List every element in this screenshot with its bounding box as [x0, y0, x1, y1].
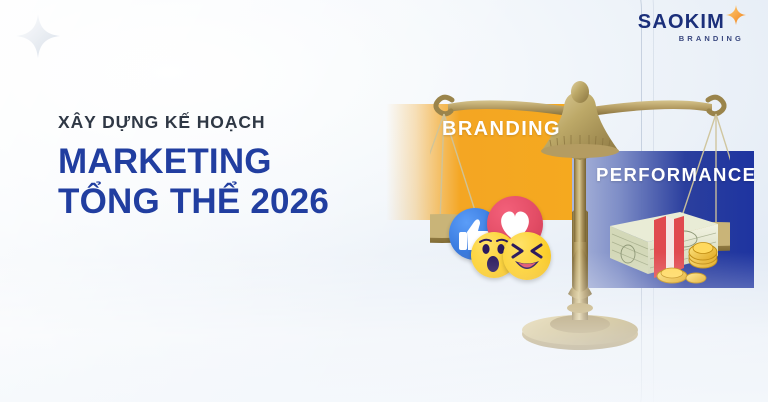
branding-label: BRANDING: [442, 118, 561, 141]
facebook-haha-emoji-icon: [503, 232, 551, 280]
four-point-star-icon: [726, 5, 746, 25]
branding-pan-items: [449, 196, 559, 291]
logo-tagline: BRANDING: [638, 35, 746, 43]
headline-line-2: TỔNG THỂ 2026: [58, 184, 329, 220]
performance-pan-items: [606, 202, 724, 292]
headline-block: XÂY DỰNG KẾ HOẠCH MARKETING TỔNG THỂ 202…: [58, 112, 329, 219]
banner-canvas: BRANDING PERFORMANCE XÂY DỰNG KẾ HOẠCH M…: [0, 0, 768, 402]
headline-line-1: MARKETING: [58, 144, 329, 180]
four-point-star-icon: [14, 12, 62, 60]
saokim-logo[interactable]: SAOKIM BRANDING: [638, 12, 746, 43]
performance-label: PERFORMANCE: [596, 164, 756, 186]
logo-wordmark: SAOKIM: [638, 12, 725, 32]
headline-kicker: XÂY DỰNG KẾ HOẠCH: [58, 112, 329, 133]
